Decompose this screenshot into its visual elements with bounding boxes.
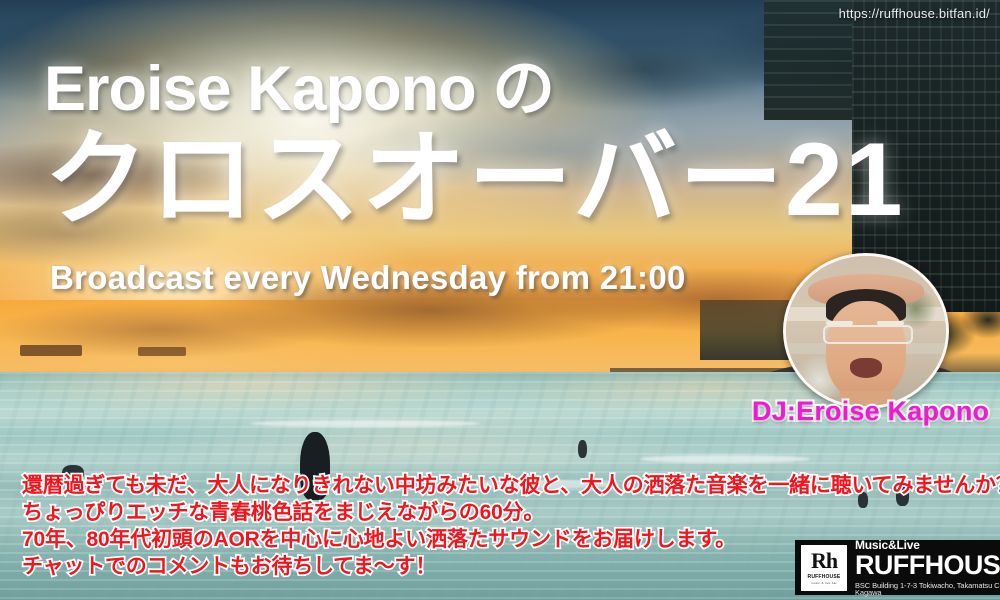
logo-monogram: Rh: [811, 550, 837, 572]
horizon-ship-left: [20, 345, 82, 356]
page-url[interactable]: https://ruffhouse.bitfan.id/: [839, 6, 990, 21]
ruffhouse-logo-block[interactable]: Rh RUFFHOUSE music & live bar Music&Live…: [795, 540, 1000, 595]
portrait-mouth: [850, 358, 882, 378]
horizon-ship-right: [138, 347, 186, 356]
dj-portrait-avatar: [783, 253, 949, 409]
show-title-english: Eroise Kapono の: [44, 58, 554, 121]
portrait-glasses: [823, 325, 913, 344]
ruffhouse-logo-text: Music&Live RUFFHOUSE BSC Building 1-7-3 …: [855, 539, 1000, 597]
broadcast-schedule: Broadcast every Wednesday from 21:00: [50, 259, 686, 297]
logo-mark-name: RUFFHOUSE: [808, 574, 841, 580]
surfer: [578, 440, 587, 458]
ruffhouse-logo-mark: Rh RUFFHOUSE music & live bar: [801, 545, 847, 591]
logo-address: BSC Building 1-7-3 Tokiwacho, Takamatsu …: [855, 582, 1000, 597]
show-title-japanese: クロスオーバー21: [44, 128, 905, 232]
description-line-1: 還暦過ぎても未だ、大人になりきれない中坊みたいな彼と、大人の洒落た音楽を一緒に聴…: [22, 472, 990, 499]
portrait-face: [826, 301, 906, 400]
wave-crest: [640, 455, 810, 463]
description-line-2: ちょっぴりエッチな青春桃色話をまじえながらの60分。: [22, 499, 990, 526]
wave-crest: [250, 420, 480, 427]
logo-tagline: Music&Live: [855, 539, 1000, 551]
logo-brand: RUFFHOUSE: [855, 552, 1000, 579]
radio-show-poster: https://ruffhouse.bitfan.id/ Eroise Kapo…: [0, 0, 1000, 600]
dj-name-label: DJ:Eroise Kapono: [752, 396, 989, 427]
logo-mark-tag: music & live bar: [811, 581, 837, 585]
